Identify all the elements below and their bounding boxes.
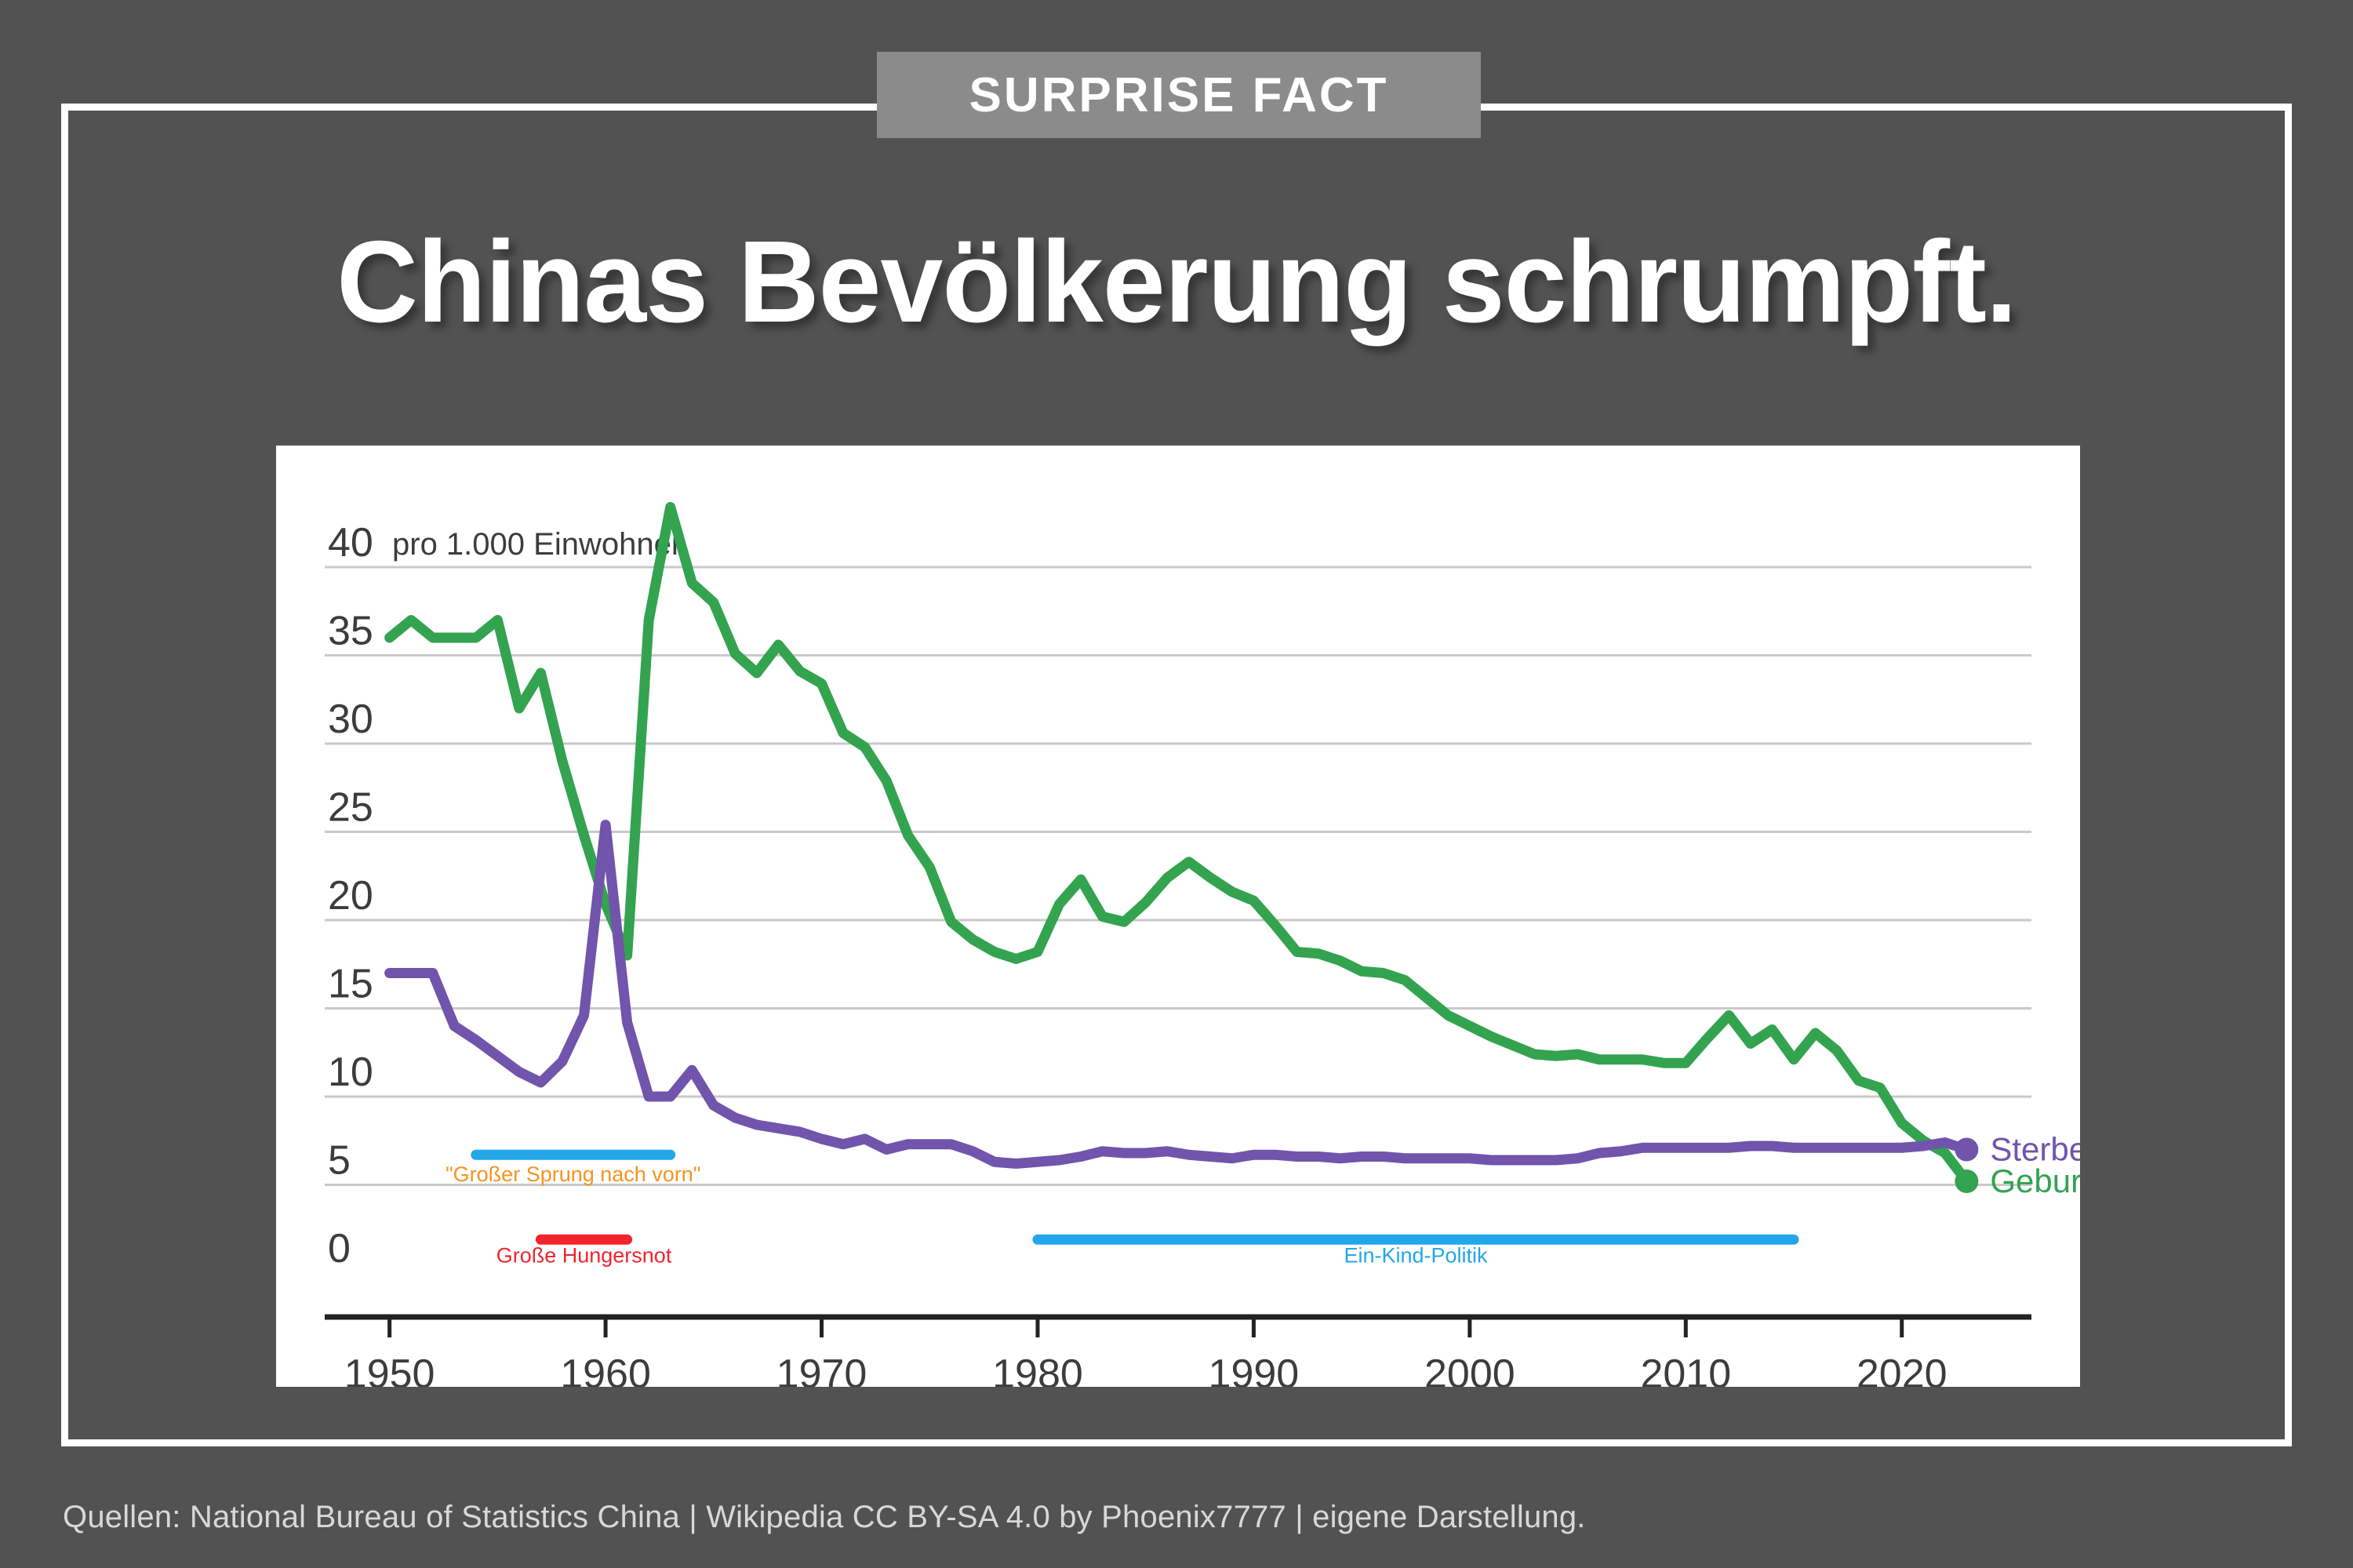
y-axis-unit-label: 40pro 1.000 Einwohner: [328, 520, 682, 566]
series-endpoint-geburtenrate: [1955, 1170, 1978, 1193]
y-tick-label: 35: [328, 609, 373, 654]
y-tick-label: 25: [328, 785, 373, 831]
x-tick-label: 2020: [1857, 1352, 1947, 1387]
sources-footer: Quellen: National Bureau of Statistics C…: [63, 1500, 1586, 1535]
x-tick-label: 2010: [1640, 1352, 1731, 1387]
annotation-label-great-famine: Große Hungersnot: [496, 1244, 672, 1268]
legend-label-geburtenrate: Geburtenrate: [1990, 1162, 2080, 1199]
y-tick-label: 5: [328, 1138, 351, 1184]
x-axis: [325, 1317, 2031, 1337]
annotation-label-great-leap-forward: "Großer Sprung nach vorn": [446, 1162, 700, 1186]
line-chart: 05101520253035 40pro 1.000 Einwohner "Gr…: [276, 446, 2080, 1387]
y-tick-labels: 05101520253035: [328, 609, 373, 1272]
y-tick-label: 15: [328, 962, 373, 1007]
series-endpoint-sterberate: [1955, 1138, 1978, 1162]
badge-label: SURPRISE FACT: [969, 67, 1388, 123]
y-tick-label: 20: [328, 873, 373, 919]
y-axis-max-label: 40: [328, 520, 373, 566]
surprise-fact-badge: SURPRISE FACT: [877, 52, 1481, 138]
series-line-geburtenrate: [390, 508, 1967, 1182]
x-tick-label: 1980: [992, 1352, 1083, 1387]
y-tick-label: 0: [328, 1226, 351, 1271]
x-tick-label: 1950: [344, 1352, 435, 1387]
x-tick-label: 2000: [1424, 1352, 1515, 1387]
x-tick-label: 1990: [1209, 1352, 1300, 1387]
annotations-group: "Großer Sprung nach vorn"Große Hungersno…: [446, 1155, 1794, 1267]
legend: SterberateGeburtenrate: [1990, 1131, 2080, 1200]
series-group: [390, 508, 1967, 1182]
y-tick-label: 30: [328, 697, 373, 742]
page-title: Chinas Bevölkerung schrumpft.: [35, 216, 2318, 349]
x-tick-label: 1960: [560, 1352, 651, 1387]
y-axis-unit-text: pro 1.000 Einwohner: [392, 527, 682, 562]
x-tick-label: 1970: [776, 1352, 867, 1387]
annotation-label-one-child-policy: Ein-Kind-Politik: [1344, 1244, 1488, 1268]
chart-card: 05101520253035 40pro 1.000 Einwohner "Gr…: [276, 446, 2080, 1387]
x-tick-labels: 19501960197019801990200020102020: [344, 1352, 1947, 1387]
y-tick-label: 10: [328, 1050, 373, 1095]
